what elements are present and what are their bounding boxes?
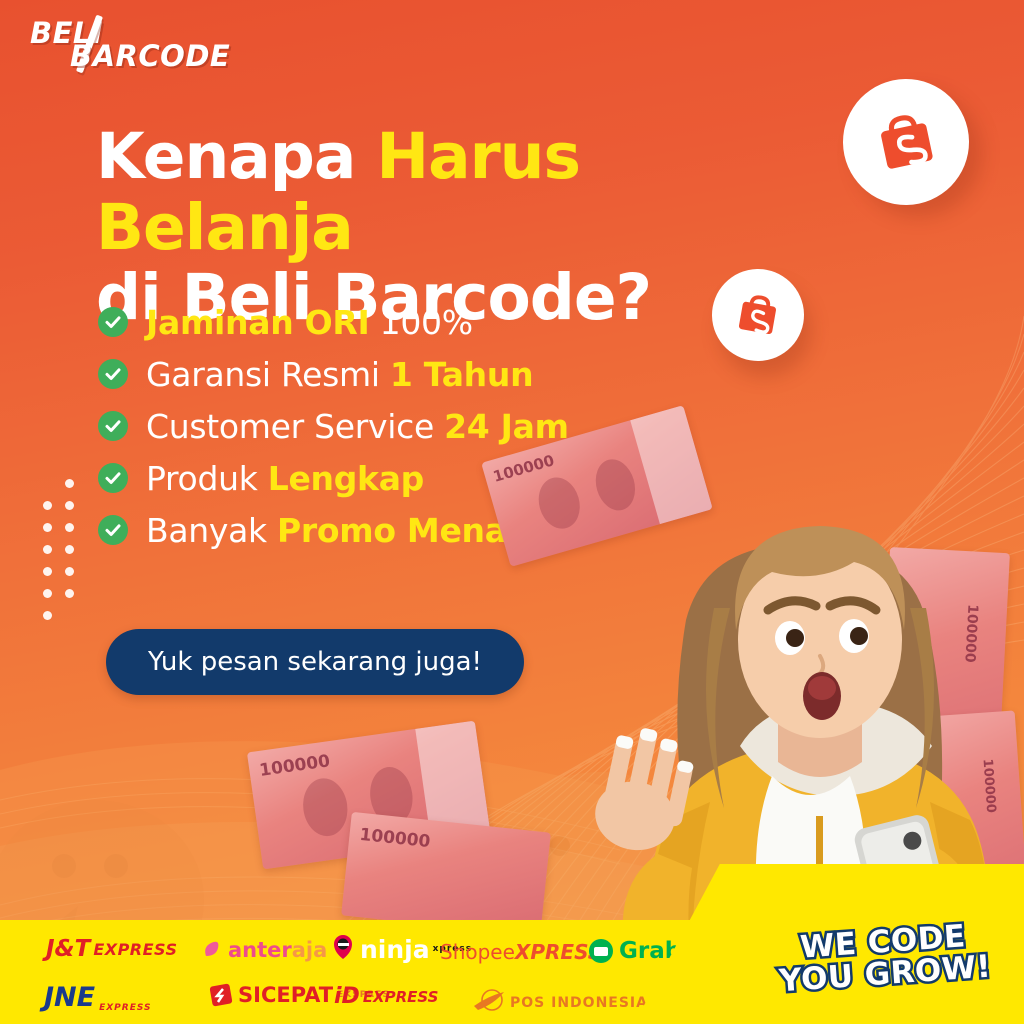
courier-name: iD [334,984,360,1009]
shopee-bag-icon [862,98,950,186]
courier-logo-shopee-xpress: ShopeeXPRESS [440,940,602,964]
check-circle-icon [98,359,128,389]
benefit-text: Produk Lengkap [146,459,424,498]
brand-logo[interactable]: BELI BARCODE [26,14,226,70]
benefit-highlight: Lengkap [268,459,424,498]
check-circle-icon [98,307,128,337]
promo-poster: BELI BARCODE Kenapa Harus Belanja di Bel… [0,0,1024,1024]
shopee-bag-icon [727,284,790,347]
courier-name: JNE [44,982,95,1013]
benefit-plain: Garansi Resmi [146,355,390,394]
ninja-pin-icon [330,934,356,964]
benefit-plain: Banyak [146,511,277,550]
benefit-plain: 100% [369,303,472,342]
banknote-100000: 100000 [341,812,551,936]
check-circle-icon [98,411,128,441]
cta-button[interactable]: Yuk pesan sekarang juga! [106,629,524,695]
check-circle-icon [98,463,128,493]
pos-indonesia-bird-icon [472,988,506,1018]
list-item: Jaminan ORI 100% [98,300,698,344]
courier-name: J&T [46,936,90,962]
courier-logo-anteraja: anteraja [200,938,327,962]
sicepat-mark-icon [208,982,234,1008]
headline-part-white: Kenapa [96,120,376,193]
headline-line-1: Kenapa Harus Belanja [96,122,836,263]
dot-grid-decoration [36,472,80,626]
courier-name: POS INDONESIA [510,995,648,1011]
courier-logo-pos-indonesia: POS INDONESIA [472,988,648,1018]
courier-name: anter [228,938,292,962]
courier-suffix: aja [292,938,328,962]
courier-suffix: EXPRESS [93,940,177,959]
logo-text-barcode: BARCODE [70,39,230,73]
anteraja-mark-icon [200,938,224,962]
benefit-plain: Customer Service [146,407,444,446]
check-circle-icon [98,515,128,545]
courier-logo-jnt: J&TEXPRESS [46,936,178,962]
courier-name: ninja [360,935,430,964]
courier-logo-strip: J&TEXPRESS anteraja ninja xpress ShopeeX… [0,920,1024,1024]
courier-logo-id-express: iD EXPRESS [334,984,439,1009]
courier-name: Shopee [440,940,515,964]
courier-logo-jne: JNE EXPRESS [44,982,152,1013]
courier-name: SICEPAT [238,983,333,1007]
courier-logo-grab: Grab [588,938,681,964]
grabexpress-mark-icon [588,938,614,964]
courier-suffix: EXPRESS [99,1003,151,1013]
tagline: WE CODE YOU GROW! [776,919,992,997]
benefit-text: Jaminan ORI 100% [146,303,473,342]
benefit-highlight: Jaminan ORI [146,303,369,342]
courier-suffix: EXPRESS [363,988,439,1006]
benefit-plain: Produk [146,459,268,498]
shopee-badge-large [831,67,980,216]
